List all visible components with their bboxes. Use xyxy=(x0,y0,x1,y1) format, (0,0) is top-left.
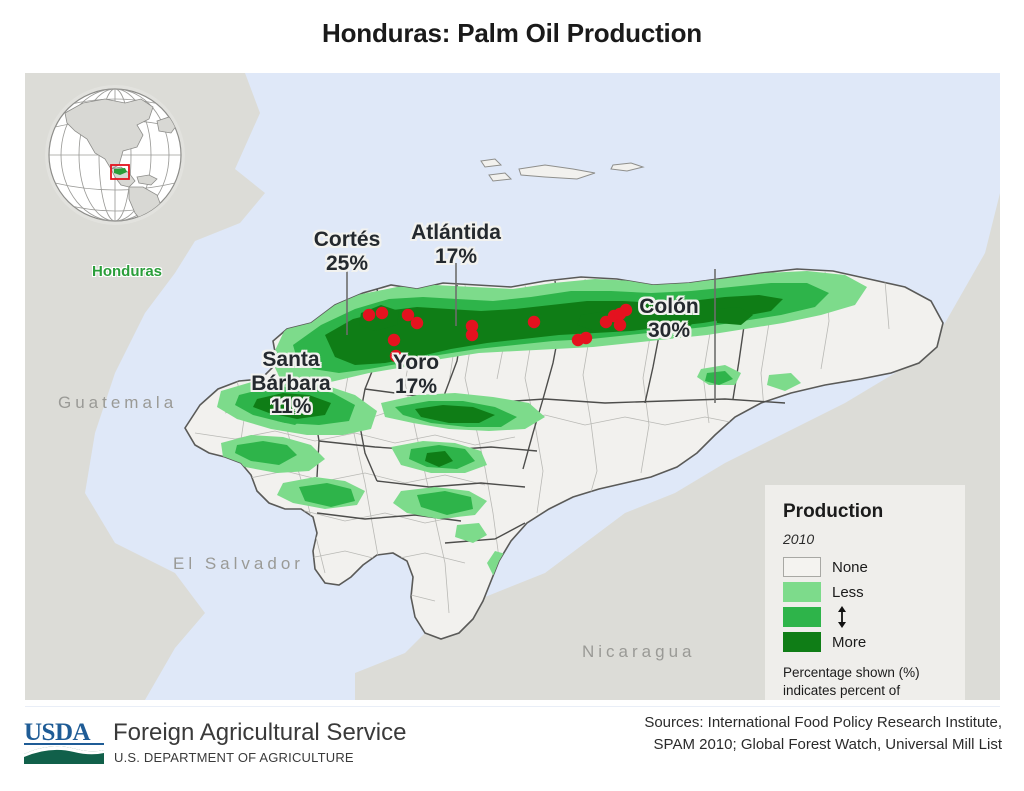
usda-logo: USDA xyxy=(24,718,106,766)
legend-label-less: Less xyxy=(832,584,864,601)
legend-swatch-less xyxy=(783,582,821,602)
footer-divider xyxy=(25,706,1000,707)
legend-label-more: More xyxy=(832,634,866,651)
legend-row-none: None xyxy=(783,556,947,578)
map-canvas[interactable]: Honduras Cortés 25% Atlántida 17% Colón … xyxy=(25,73,1000,700)
palm-oil-mill-point[interactable] xyxy=(528,316,540,328)
legend-row-less: Less xyxy=(783,581,947,603)
legend-label-none: None xyxy=(832,559,868,576)
legend-note: Percentage shown (%) indicates percent o… xyxy=(783,664,947,700)
legend-title: Production xyxy=(783,501,947,523)
palm-oil-mill-point[interactable] xyxy=(620,304,632,316)
palm-oil-mill-point[interactable] xyxy=(614,319,626,331)
sources-note: Sources: International Food Policy Resea… xyxy=(532,712,1002,756)
page-title: Honduras: Palm Oil Production xyxy=(0,18,1024,49)
legend-swatch-mid xyxy=(783,607,821,627)
legend-row-mid xyxy=(783,606,947,628)
palm-oil-mill-point[interactable] xyxy=(411,317,423,329)
sources-line-1: Sources: International Food Policy Resea… xyxy=(532,712,1002,734)
up-down-arrow-icon xyxy=(835,606,849,628)
agency-name: Foreign Agricultural Service xyxy=(113,719,406,747)
palm-oil-mill-point[interactable] xyxy=(390,350,402,362)
department-name: U.S. DEPARTMENT OF AGRICULTURE xyxy=(114,750,354,765)
legend-year: 2010 xyxy=(783,531,947,547)
palm-oil-mill-point[interactable] xyxy=(466,329,478,341)
palm-oil-mill-point[interactable] xyxy=(376,307,388,319)
usda-logo-text: USDA xyxy=(24,719,91,746)
palm-oil-mill-point[interactable] xyxy=(580,332,592,344)
legend-panel: Production 2010 None Less More Percentag… xyxy=(765,485,965,700)
sources-line-2: SPAM 2010; Global Forest Watch, Universa… xyxy=(532,734,1002,756)
legend-swatch-more xyxy=(783,632,821,652)
legend-swatch-none xyxy=(783,557,821,577)
legend-row-more: More xyxy=(783,631,947,653)
palm-oil-mill-point[interactable] xyxy=(388,334,400,346)
globe-inset xyxy=(45,85,185,225)
usda-logo-rule xyxy=(24,743,104,745)
palm-oil-mill-point[interactable] xyxy=(363,309,375,321)
